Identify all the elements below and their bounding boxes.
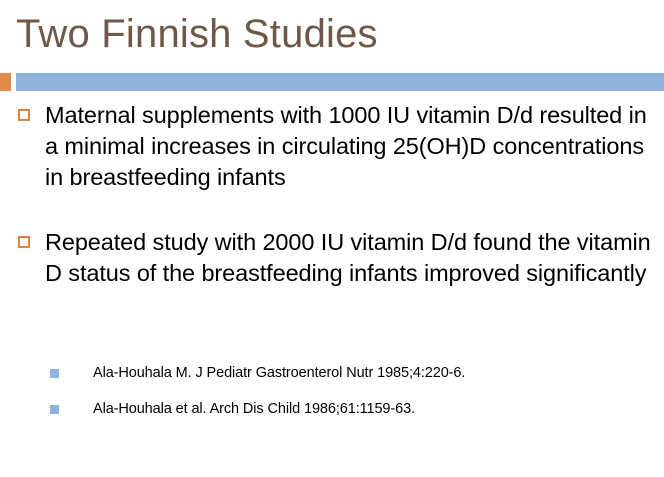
reference-item-text: Ala-Houhala et al. Arch Dis Child 1986;6… xyxy=(93,399,664,419)
hollow-square-bullet-icon xyxy=(18,109,30,121)
list-item: Maternal supplements with 1000 IU vitami… xyxy=(0,100,664,193)
reference-list: Ala-Houhala M. J Pediatr Gastroenterol N… xyxy=(0,363,664,419)
small-filled-square-bullet-icon xyxy=(50,369,59,378)
small-filled-square-bullet-icon xyxy=(50,405,59,414)
reference-item: Ala-Houhala et al. Arch Dis Child 1986;6… xyxy=(0,399,664,419)
reference-item: Ala-Houhala M. J Pediatr Gastroenterol N… xyxy=(0,363,664,383)
title-divider xyxy=(0,73,664,91)
blue-divider-bar xyxy=(16,73,664,91)
list-item-text: Maternal supplements with 1000 IU vitami… xyxy=(45,100,664,193)
bullet-list: Maternal supplements with 1000 IU vitami… xyxy=(0,100,664,289)
title-block: Two Finnish Studies xyxy=(16,8,646,66)
slide-canvas: Two Finnish Studies Maternal supplements… xyxy=(0,0,664,477)
hollow-square-bullet-icon xyxy=(18,236,30,248)
page-title: Two Finnish Studies xyxy=(16,8,646,60)
reference-item-text: Ala-Houhala M. J Pediatr Gastroenterol N… xyxy=(93,363,664,383)
list-item: Repeated study with 2000 IU vitamin D/d … xyxy=(0,227,664,289)
list-item-text: Repeated study with 2000 IU vitamin D/d … xyxy=(45,227,664,289)
orange-accent-square-icon xyxy=(0,73,11,91)
